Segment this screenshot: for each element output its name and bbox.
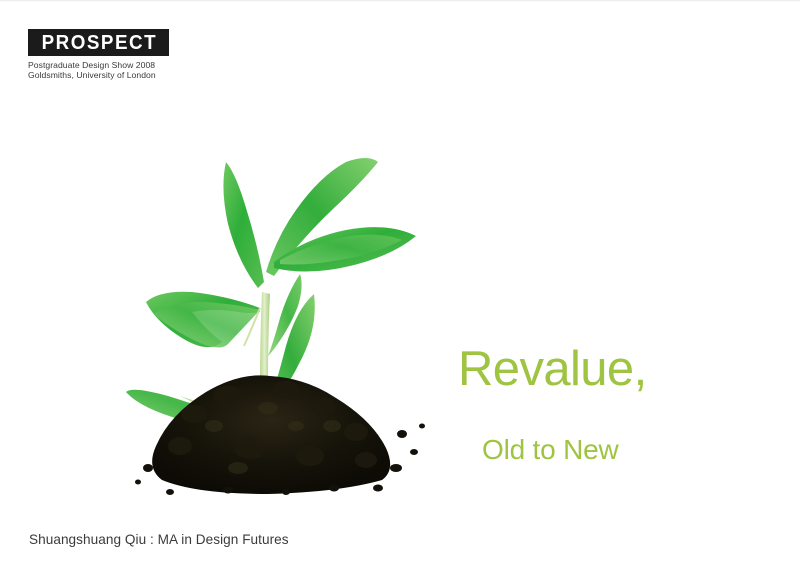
soil-mound [135, 375, 425, 495]
headline-block: Revalue, Old to New [458, 342, 778, 466]
seedling-in-soil-photo [110, 96, 440, 496]
logo-subtitle-line-2: Goldsmiths, University of London [28, 70, 169, 80]
seedling-illustration [110, 96, 440, 496]
logo-subtitle: Postgraduate Design Show 2008 Goldsmiths… [28, 60, 169, 80]
plant-leaf-left-curved-shade [154, 302, 260, 348]
prospect-logo: PROSPECT Postgraduate Design Show 2008 G… [28, 29, 169, 80]
logo-black-bar: PROSPECT [28, 29, 169, 56]
plant-upper-stem [260, 292, 270, 388]
slide-canvas: PROSPECT Postgraduate Design Show 2008 G… [0, 0, 800, 568]
page-title: Revalue, [458, 342, 778, 396]
logo-subtitle-line-1: Postgraduate Design Show 2008 [28, 60, 169, 70]
page-top-edge [0, 0, 800, 2]
plant-leaf-upper-left [223, 162, 264, 288]
author-caption: Shuangshuang Qiu : MA in Design Futures [29, 531, 289, 548]
page-subtitle: Old to New [482, 434, 778, 466]
logo-wordmark: PROSPECT [40, 33, 157, 53]
